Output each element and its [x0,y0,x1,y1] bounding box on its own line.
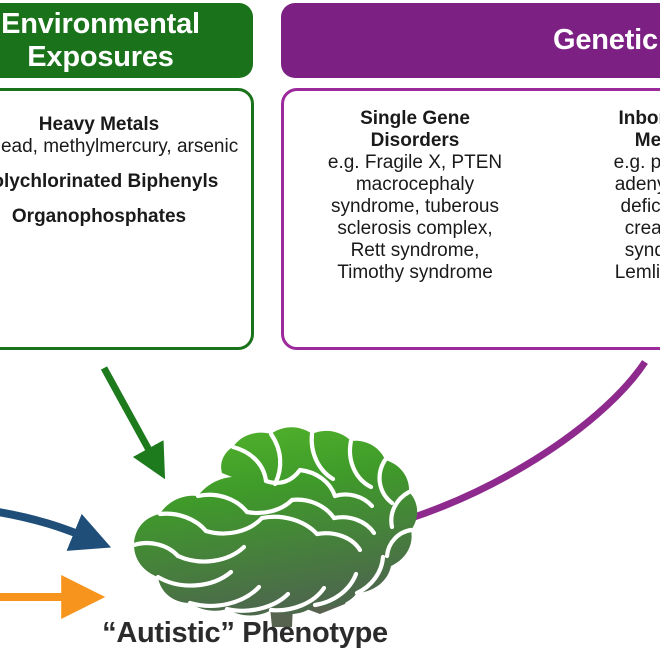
blue-arrow [0,508,100,543]
diagram-canvas: Environmental Exposures Genetic Heavy Me… [0,0,660,660]
green-arrow [104,368,160,470]
purple-arrow [350,362,645,534]
brain-phenotype-label: “Autistic” Phenotype [55,617,435,650]
arrow-layer [0,0,660,660]
